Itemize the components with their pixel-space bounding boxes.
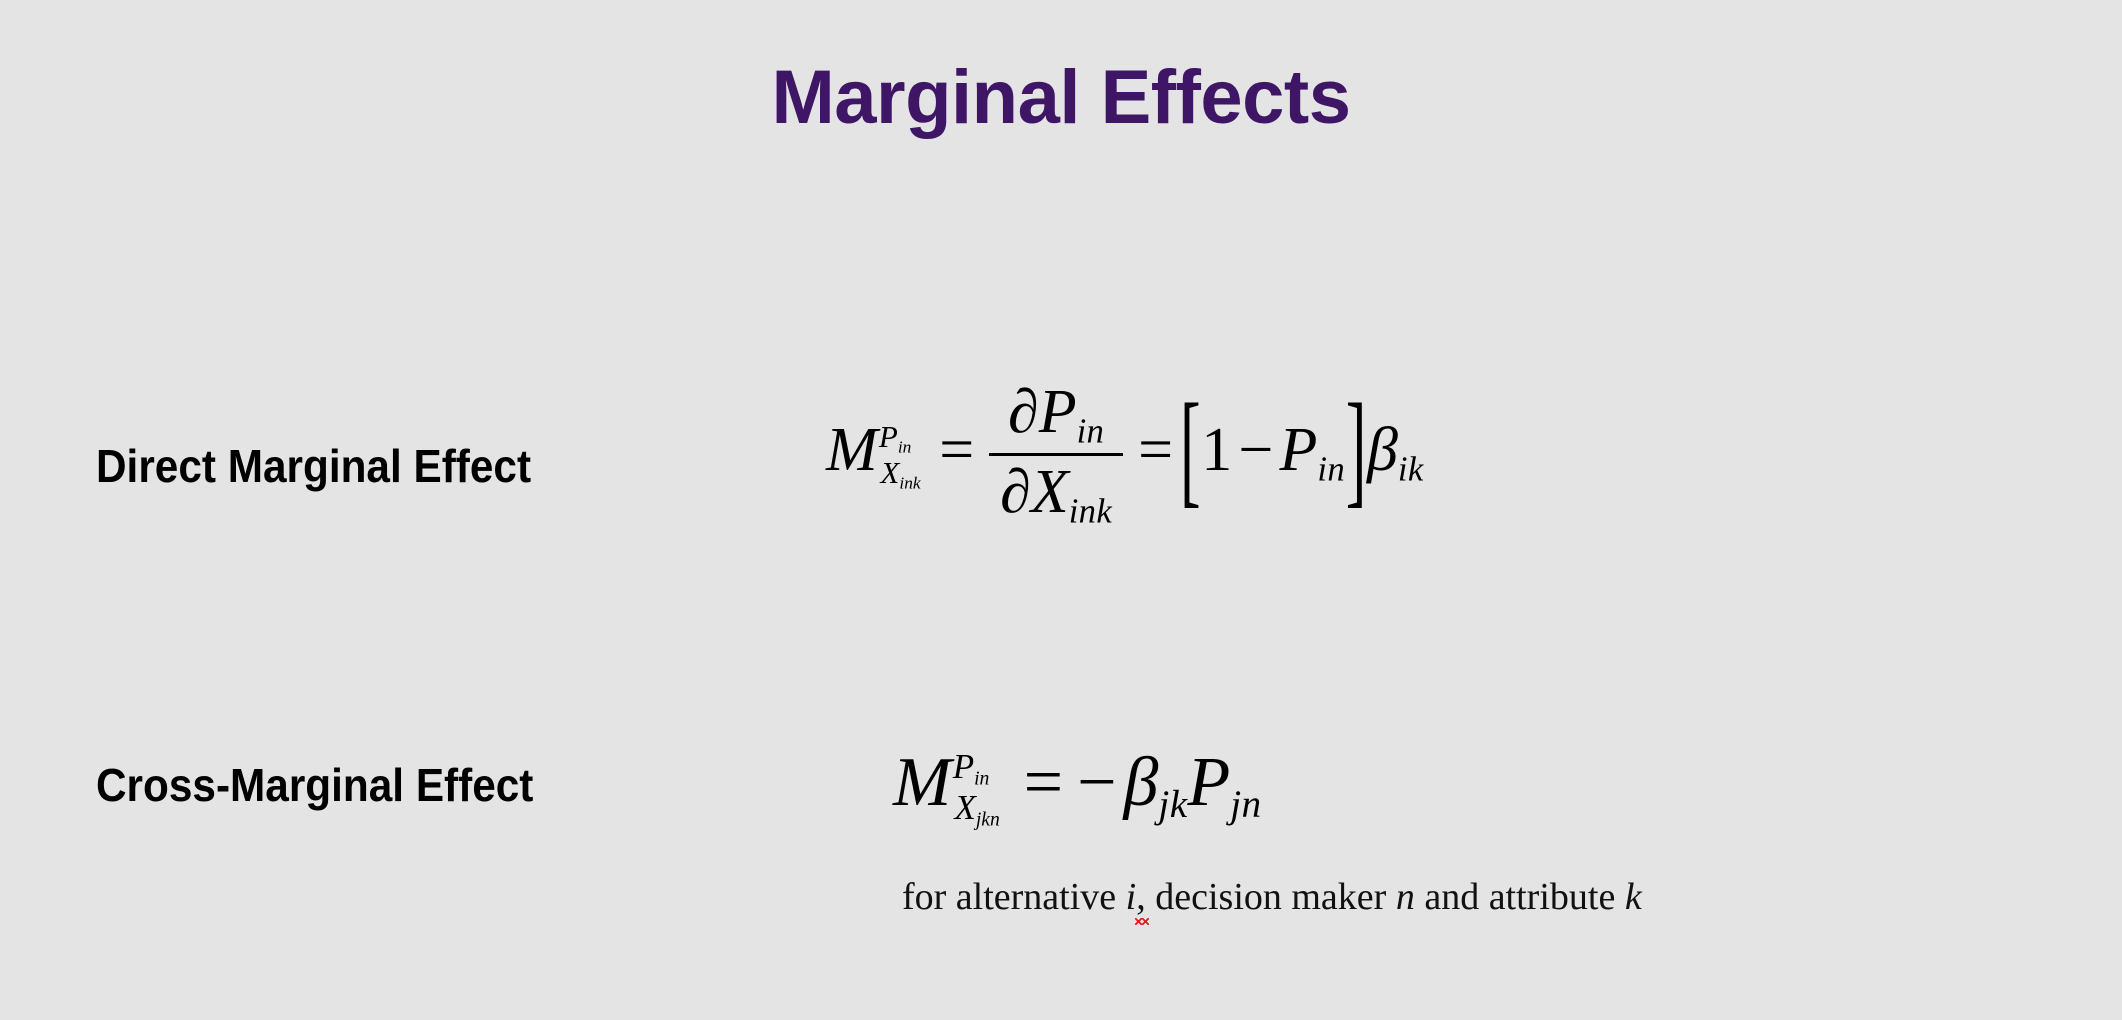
caption-variable-k: k: [1625, 876, 1642, 918]
equation-caption: for alternative i, decision maker n and …: [902, 878, 1642, 916]
page-title: Marginal Effects: [0, 60, 2122, 136]
caption-text-3: and attribute: [1415, 876, 1625, 918]
constant-one: 1: [1201, 416, 1232, 484]
fraction-numerator: ∂Pin: [989, 381, 1123, 452]
caption-variable-i: i: [1126, 876, 1137, 918]
caption-comma: ,: [1136, 876, 1146, 918]
equation-m-subscript: Xink: [879, 457, 921, 493]
probability-p-subscript: jn: [1230, 783, 1261, 826]
equals-sign-1: =: [1000, 744, 1070, 821]
fraction-bar: [989, 453, 1123, 456]
bracket-open: [: [1180, 386, 1201, 513]
direct-marginal-effect-equation: MPinXink= ∂Pin ∂Xink =[1−Pin]βik: [826, 382, 1424, 530]
equation-m-superscript: Pin: [953, 749, 1000, 790]
equals-sign-1: =: [921, 416, 981, 484]
beta-subscript: jk: [1158, 783, 1187, 826]
minus-sign: −: [1070, 744, 1123, 821]
probability-p: P: [1188, 744, 1231, 821]
equation-m-indices: PinXjkn: [953, 749, 1000, 831]
equation-m-subscript: Xjkn: [953, 790, 1000, 831]
equation-operator-m: M: [826, 416, 878, 484]
spellcheck-squiggle: ,: [1136, 878, 1146, 916]
caption-text-2: decision maker: [1146, 876, 1396, 918]
bracket-close: ]: [1346, 386, 1367, 513]
minus-sign: −: [1232, 416, 1279, 484]
beta-subscript: ik: [1398, 450, 1424, 489]
cross-marginal-effect-label: Cross-Marginal Effect: [96, 762, 533, 808]
direct-marginal-effect-label: Direct Marginal Effect: [96, 443, 531, 489]
cross-marginal-effect-equation: MPinXjkn=−βjkPjn: [893, 748, 1262, 830]
equation-operator-m: M: [893, 744, 951, 821]
partial-derivative-fraction: ∂Pin ∂Xink: [989, 381, 1123, 529]
caption-variable-n: n: [1396, 876, 1415, 918]
caption-text-1: for alternative: [902, 876, 1126, 918]
beta-symbol: β: [1124, 744, 1159, 821]
beta-symbol: β: [1367, 416, 1398, 484]
probability-p-subscript: in: [1317, 450, 1345, 489]
fraction-denominator: ∂Xink: [989, 457, 1123, 528]
probability-p: P: [1280, 416, 1318, 484]
equals-sign-2: =: [1132, 416, 1179, 484]
equation-m-indices: PinXink: [879, 421, 921, 493]
equation-m-superscript: Pin: [879, 421, 921, 457]
presentation-slide: Marginal Effects Direct Marginal Effect …: [0, 0, 2122, 1020]
